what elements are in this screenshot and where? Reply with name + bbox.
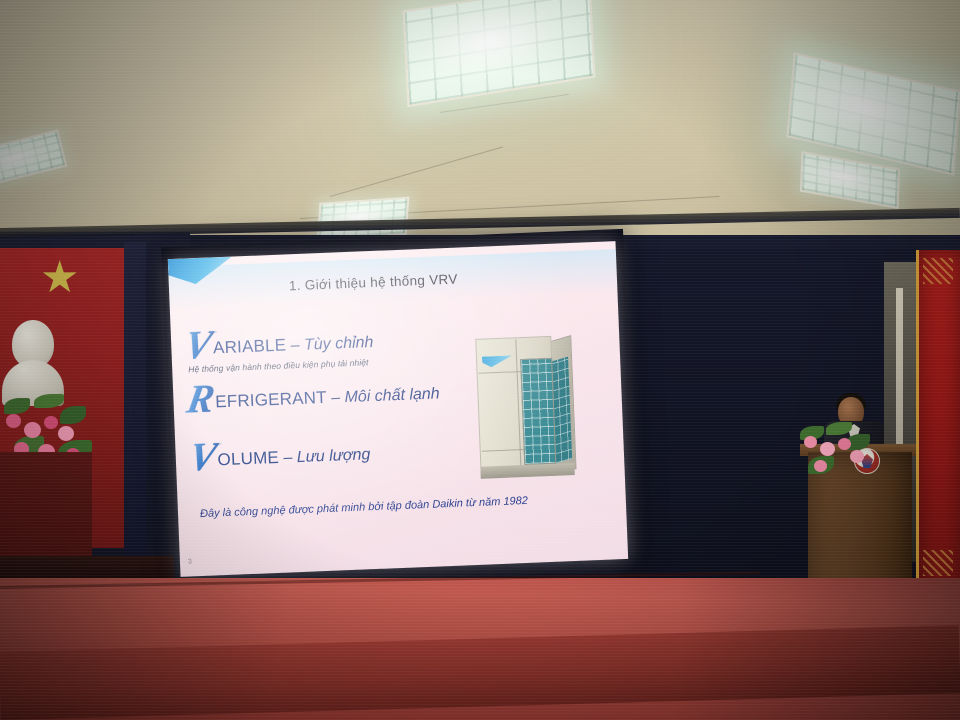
stage-shading bbox=[0, 578, 960, 720]
daikin-vrv-unit-image bbox=[475, 335, 577, 489]
flag-frame bbox=[124, 242, 146, 562]
red-ceremonial-banner bbox=[916, 250, 960, 630]
acronym-word-volume: OLUME bbox=[217, 448, 279, 469]
acronym-translation-refrigerant: Môi chất lạnh bbox=[344, 385, 440, 406]
acronym-dash: – bbox=[286, 337, 304, 355]
flower-arrangement-podium bbox=[800, 422, 872, 480]
acronym-translation-variable: Tùy chỉnh bbox=[304, 334, 374, 354]
slide-footnote: Đây là công nghệ được phát minh bởi tập … bbox=[200, 492, 610, 520]
dropcap-v: V bbox=[182, 327, 215, 362]
acronym-dash: – bbox=[326, 389, 344, 407]
projection-screen: 1. Giới thiệu hệ thống VRV VARIABLE – Tù… bbox=[161, 229, 636, 589]
slide-acronym-line-refrigerant: REFRIGERANT – Môi chất lạnh bbox=[187, 372, 440, 417]
acronym-translation-volume: Lưu lượng bbox=[296, 446, 370, 466]
dropcap-v2: V bbox=[187, 439, 220, 474]
acronym-word-refrigerant: EFRIGERANT bbox=[215, 388, 327, 411]
conference-hall-photo: 1. Giới thiệu hệ thống VRV VARIABLE – Tù… bbox=[0, 0, 960, 720]
slide-acronym-line-volume: VOLUME – Lưu lượng bbox=[189, 433, 371, 475]
slide-number: 3 bbox=[188, 558, 192, 565]
presentation-slide: 1. Giới thiệu hệ thống VRV VARIABLE – Tù… bbox=[168, 241, 628, 577]
acronym-dash: – bbox=[279, 449, 297, 467]
acronym-word-variable: ARIABLE bbox=[213, 335, 287, 357]
dropcap-r: R bbox=[185, 381, 218, 416]
